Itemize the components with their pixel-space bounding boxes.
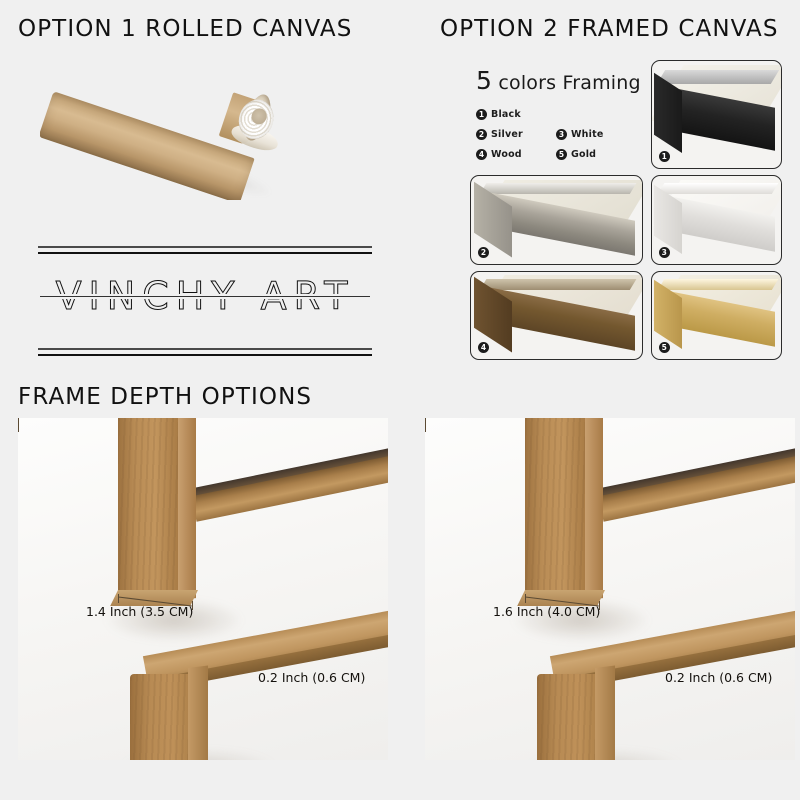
frame-depth-label: 0.2 Inch (0.6 CM) — [665, 670, 772, 685]
frame-width-label: 1.4 Inch (3.5 CM) — [86, 604, 193, 619]
legend-row: 1 Black — [476, 109, 641, 120]
swatch-badge-icon: 3 — [659, 247, 670, 258]
frame-depth-photo-1-6: 1.6 Inch (4.0 CM) 0.2 Inch (0.6 CM) — [425, 418, 795, 760]
framing-legend: 5 colors Framing 1 Black 2 Silver 3 Whit… — [470, 60, 643, 169]
brand-wordmark: VINCHY ART — [38, 274, 372, 318]
framing-colors-grid: 5 colors Framing 1 Black 2 Silver 3 Whit… — [470, 60, 782, 360]
framing-legend-list: 1 Black 2 Silver 3 White 4 Wood — [476, 109, 641, 160]
legend-item-gold: 5 Gold — [556, 149, 622, 160]
swatch-badge-icon: 4 — [478, 342, 489, 353]
badge-number-icon: 4 — [476, 149, 487, 160]
badge-number-icon: 1 — [476, 109, 487, 120]
swatch-badge-icon: 1 — [659, 151, 670, 162]
framing-legend-title: 5 colors Framing — [476, 66, 641, 95]
badge-number-icon: 2 — [476, 129, 487, 140]
upper-frame-post-bevel — [585, 418, 603, 600]
frame-swatch-silver[interactable]: 2 — [470, 175, 643, 265]
frame-width-label: 1.6 Inch (4.0 CM) — [493, 604, 600, 619]
frame-depth-photo-1-4: 1.4 Inch (3.5 CM) 0.2 Inch (0.6 CM) — [18, 418, 388, 760]
option-2-heading: OPTION 2 FRAMED CANVAS — [440, 16, 779, 42]
logo-rule-bottom — [38, 348, 372, 356]
kraft-tube-body — [40, 91, 255, 200]
frame-corner-render — [652, 272, 781, 360]
upper-frame-post-bevel — [178, 418, 196, 600]
logo-rule-top — [38, 246, 372, 254]
frame-corner-render — [471, 176, 642, 264]
frame-swatch-white[interactable]: 3 — [651, 175, 782, 265]
lower-frame-post-bevel — [188, 666, 208, 760]
depth-dimension-line — [425, 418, 426, 432]
frame-depth-label: 0.2 Inch (0.6 CM) — [258, 670, 365, 685]
depth-dimension-line — [18, 418, 19, 432]
legend-item-white: 3 White — [556, 129, 622, 140]
lower-frame-post-bevel — [595, 666, 615, 760]
frame-corner-render — [652, 176, 781, 264]
frame-corner-render — [652, 61, 781, 168]
swatch-badge-icon: 2 — [478, 247, 489, 258]
width-dimension-tick — [525, 594, 526, 603]
brand-logo: VINCHY ART — [38, 246, 372, 356]
option-1-heading: OPTION 1 ROLLED CANVAS — [18, 16, 352, 42]
frame-swatch-gold[interactable]: 5 — [651, 271, 782, 361]
legend-row: 2 Silver 3 White — [476, 129, 641, 140]
frame-corner-render — [471, 272, 642, 360]
width-dimension-tick — [118, 594, 119, 603]
legend-item-wood: 4 Wood — [476, 149, 542, 160]
frame-swatch-black[interactable]: 1 — [651, 60, 782, 169]
legend-item-silver: 2 Silver — [476, 129, 542, 140]
badge-number-icon: 5 — [556, 149, 567, 160]
badge-number-icon: 3 — [556, 129, 567, 140]
frame-depth-heading: FRAME DEPTH OPTIONS — [18, 384, 312, 410]
legend-item-black: 1 Black — [476, 109, 542, 120]
swatch-badge-icon: 5 — [659, 342, 670, 353]
legend-row: 4 Wood 5 Gold — [476, 149, 641, 160]
rolled-canvas-photo — [40, 68, 290, 200]
frame-swatch-wood[interactable]: 4 — [470, 271, 643, 361]
